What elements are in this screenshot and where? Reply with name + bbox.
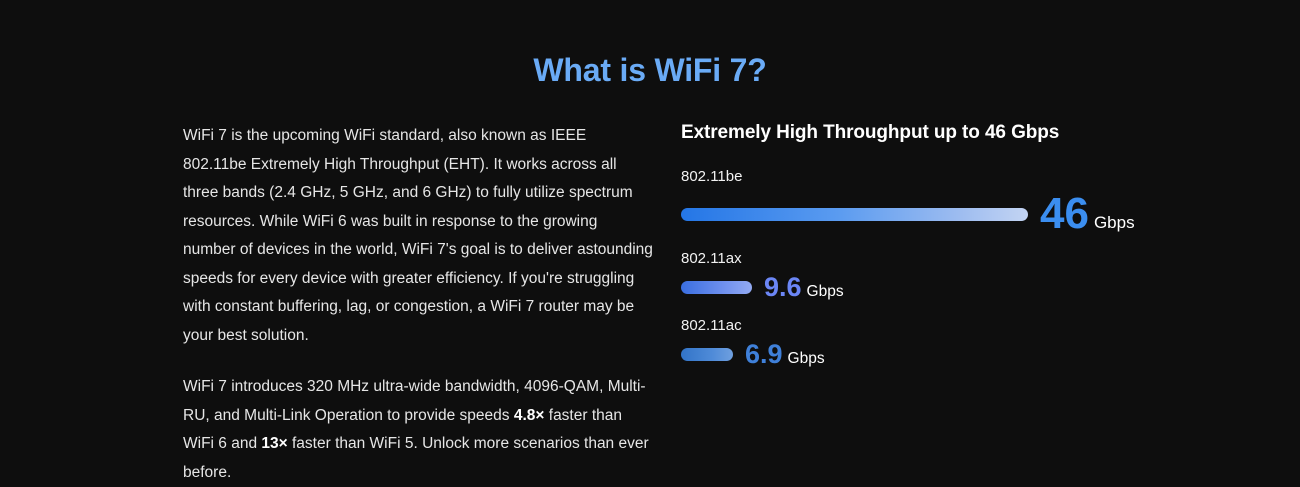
bar-line-802-11ax: 9.6 Gbps bbox=[681, 274, 1181, 301]
speed-multiplier-wifi5: 13× bbox=[261, 435, 287, 452]
bar-fill-802-11be bbox=[681, 208, 1028, 221]
bar-value-number-802-11ac: 6.9 bbox=[745, 341, 783, 368]
bar-value-802-11ac: 6.9 Gbps bbox=[745, 341, 825, 368]
speed-multiplier-wifi6: 4.8× bbox=[514, 407, 545, 424]
bar-value-unit-802-11ac: Gbps bbox=[788, 350, 825, 368]
bar-line-802-11be: 46 Gbps bbox=[681, 192, 1181, 236]
bar-line-802-11ac: 6.9 Gbps bbox=[681, 341, 1181, 368]
throughput-chart: Extremely High Throughput up to 46 Gbps … bbox=[681, 122, 1181, 389]
article-paragraph-2: WiFi 7 introduces 320 MHz ultra-wide ban… bbox=[183, 373, 653, 487]
bar-row-802-11ac: 802.11ac 6.9 Gbps bbox=[681, 317, 1181, 368]
bar-fill-802-11ac bbox=[681, 348, 733, 361]
bar-value-unit-802-11be: Gbps bbox=[1094, 213, 1135, 233]
bar-value-802-11be: 46 Gbps bbox=[1040, 192, 1135, 236]
bar-label-802-11be: 802.11be bbox=[681, 168, 1181, 185]
bar-label-802-11ac: 802.11ac bbox=[681, 317, 1181, 334]
chart-title: Extremely High Throughput up to 46 Gbps bbox=[681, 122, 1181, 144]
bar-fill-802-11ax bbox=[681, 281, 752, 294]
article-column: WiFi 7 is the upcoming WiFi standard, al… bbox=[183, 122, 653, 487]
article-paragraph-1: WiFi 7 is the upcoming WiFi standard, al… bbox=[183, 122, 653, 350]
bar-label-802-11ax: 802.11ax bbox=[681, 250, 1181, 267]
bar-value-number-802-11ax: 9.6 bbox=[764, 274, 802, 301]
bar-value-802-11ax: 9.6 Gbps bbox=[764, 274, 844, 301]
page-title: What is WiFi 7? bbox=[0, 52, 1300, 89]
page-root: What is WiFi 7? WiFi 7 is the upcoming W… bbox=[0, 0, 1300, 467]
bar-value-number-802-11be: 46 bbox=[1040, 192, 1089, 236]
bar-row-802-11ax: 802.11ax 9.6 Gbps bbox=[681, 250, 1181, 301]
bar-value-unit-802-11ax: Gbps bbox=[807, 283, 844, 301]
bar-row-802-11be: 802.11be 46 Gbps bbox=[681, 168, 1181, 236]
